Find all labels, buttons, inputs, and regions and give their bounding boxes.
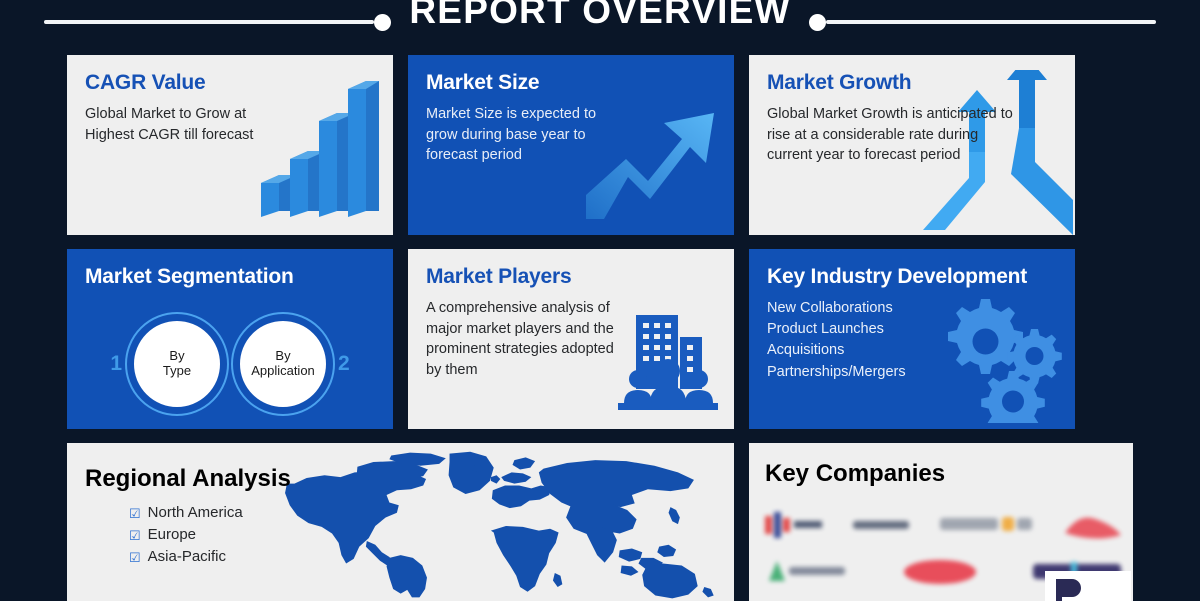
list-item: ☑ North America bbox=[129, 502, 716, 524]
header-rule-line-right bbox=[826, 20, 1156, 24]
card-market-growth-body: Global Market Growth is anticipated to r… bbox=[767, 104, 1017, 166]
card-market-size-title: Market Size bbox=[426, 72, 716, 94]
segment-label-2-line1: By bbox=[275, 348, 290, 363]
grid-row-3: Regional Analysis ☑ North America ☑ Euro… bbox=[67, 443, 1133, 601]
segment-number-2: 2 bbox=[336, 352, 352, 376]
card-market-segmentation-title: Market Segmentation bbox=[85, 266, 375, 288]
segment-label-1-line2: Type bbox=[163, 363, 191, 378]
card-cagr-value-title: CAGR Value bbox=[85, 72, 375, 94]
card-market-size[interactable]: Market Size Market Size is expected to g… bbox=[408, 55, 734, 235]
report-overview-grid: CAGR Value Global Market to Grow at High… bbox=[67, 55, 1133, 601]
page-title: REPORT OVERVIEW bbox=[409, 0, 790, 28]
watermark-letter-icon bbox=[1052, 577, 1086, 601]
card-regional-analysis[interactable]: Regional Analysis ☑ North America ☑ Euro… bbox=[67, 443, 734, 601]
segment-number-1: 1 bbox=[108, 352, 124, 376]
card-market-players-body: A comprehensive analysis of major market… bbox=[426, 298, 631, 380]
card-key-industry-development-title: Key Industry Development bbox=[767, 266, 1057, 288]
card-market-segmentation[interactable]: Market Segmentation 1 By Type bbox=[67, 249, 393, 429]
company-logo bbox=[938, 511, 1034, 539]
bar-chart-growth-icon bbox=[257, 77, 379, 217]
list-item: Product Launches bbox=[767, 319, 1057, 340]
card-cagr-value[interactable]: CAGR Value Global Market to Grow at High… bbox=[67, 55, 393, 235]
key-industry-development-list: New Collaborations Product Launches Acqu… bbox=[767, 298, 1057, 383]
company-logo-row-1 bbox=[763, 501, 1123, 548]
header-dot-left bbox=[374, 14, 391, 31]
header-dot-right bbox=[809, 14, 826, 31]
card-key-companies[interactable]: Key Companies bbox=[749, 443, 1133, 601]
check-icon: ☑ bbox=[129, 507, 141, 520]
list-item: Acquisitions bbox=[767, 340, 1057, 361]
company-logo bbox=[852, 514, 910, 536]
grid-row-2: Market Segmentation 1 By Type bbox=[67, 249, 1133, 429]
segment-circle-by-type[interactable]: By Type bbox=[134, 321, 220, 407]
card-market-growth-title: Market Growth bbox=[767, 72, 1057, 94]
header-rule-line-left bbox=[44, 20, 374, 24]
company-logo bbox=[901, 556, 979, 588]
list-item: New Collaborations bbox=[767, 298, 1057, 319]
header-rule-left bbox=[44, 14, 391, 31]
segment-label-1-line1: By bbox=[169, 348, 184, 363]
check-icon: ☑ bbox=[129, 529, 141, 542]
card-cagr-value-body: Global Market to Grow at Highest CAGR ti… bbox=[85, 104, 290, 145]
region-label: Asia-Pacific bbox=[148, 546, 226, 568]
card-key-companies-title: Key Companies bbox=[765, 460, 1117, 488]
check-icon: ☑ bbox=[129, 551, 141, 564]
card-market-growth[interactable]: Market Growth Global Market Growth is an… bbox=[749, 55, 1075, 235]
list-item: ☑ Europe bbox=[129, 524, 716, 546]
segment-unit-1[interactable]: By Type bbox=[124, 311, 230, 417]
corner-watermark-card bbox=[1045, 571, 1131, 601]
card-key-industry-development[interactable]: Key Industry Development New Collaborati… bbox=[749, 249, 1075, 429]
segment-unit-2[interactable]: By Application bbox=[230, 311, 336, 417]
segment-label-2-line2: Application bbox=[251, 363, 315, 378]
company-logo bbox=[763, 557, 849, 587]
region-label: North America bbox=[148, 502, 243, 524]
list-item: Partnerships/Mergers bbox=[767, 362, 1057, 383]
card-market-size-body: Market Size is expected to grow during b… bbox=[426, 104, 631, 166]
company-logo bbox=[763, 510, 825, 540]
region-label: Europe bbox=[148, 524, 196, 546]
card-market-players[interactable]: Market Players A comprehensive analysis … bbox=[408, 249, 734, 429]
company-logo bbox=[1061, 509, 1123, 541]
page-header: REPORT OVERVIEW bbox=[0, 0, 1200, 44]
segment-circle-by-application[interactable]: By Application bbox=[240, 321, 326, 407]
list-item: ☑ Asia-Pacific bbox=[129, 546, 716, 568]
grid-row-1: CAGR Value Global Market to Grow at High… bbox=[67, 55, 1133, 235]
card-market-players-title: Market Players bbox=[426, 266, 716, 288]
card-regional-analysis-title: Regional Analysis bbox=[85, 465, 716, 493]
regional-analysis-list: ☑ North America ☑ Europe ☑ Asia-Pacific bbox=[129, 502, 716, 569]
segmentation-diagram: 1 By Type By Applicatio bbox=[67, 311, 393, 417]
header-rule-right bbox=[809, 14, 1156, 31]
